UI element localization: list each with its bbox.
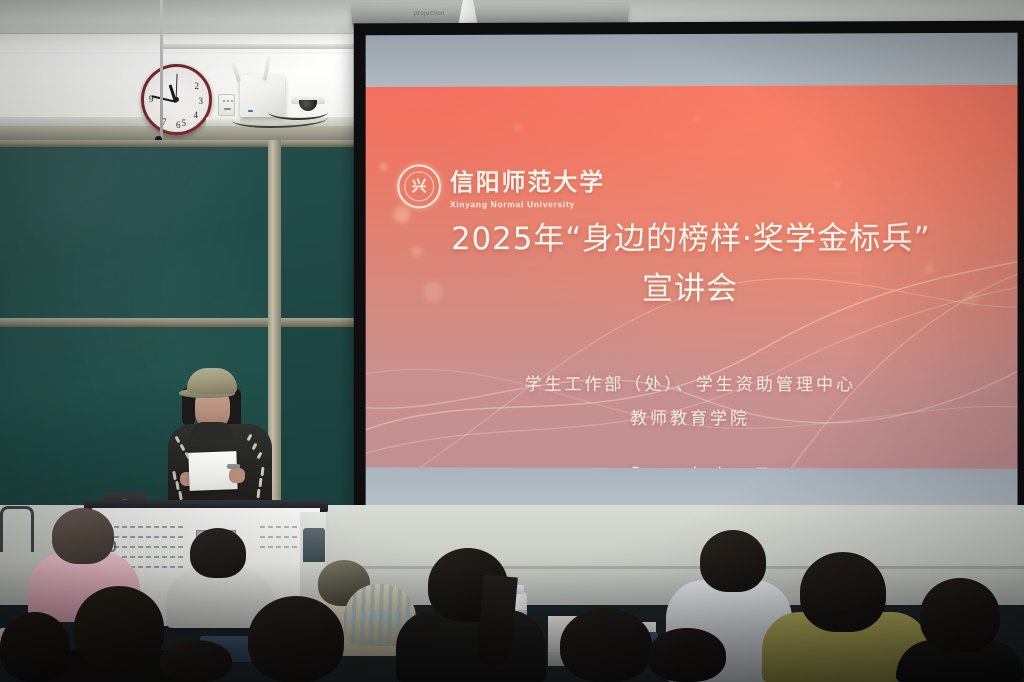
slide-subtitle-line2: 教师教育学院 xyxy=(366,401,1018,436)
bokeh-dot xyxy=(380,163,388,171)
chair-frame xyxy=(0,506,34,552)
audience-member xyxy=(190,528,246,578)
clock-numeral: 2 xyxy=(195,81,200,91)
speaker-cap xyxy=(187,368,237,394)
audience-member xyxy=(52,508,114,564)
audience-member xyxy=(800,552,886,632)
university-name-cn: 信阳师范大学 xyxy=(450,162,605,197)
university-logo: 兴 信阳师范大学 Xinyang Normal University xyxy=(397,162,605,209)
eyeglasses xyxy=(86,540,116,552)
lecture-hall-photo: 2 3 4 5 6 7 9 projection xyxy=(0,0,1024,682)
slide-title-line1: 2025年“身边的榜样·奖学金标兵” xyxy=(366,214,1018,265)
audience-member xyxy=(74,586,164,670)
wall-clock: 2 3 4 5 6 7 9 xyxy=(141,64,212,135)
audience-member xyxy=(0,612,70,682)
screen-brand-label: projection xyxy=(414,11,445,17)
clock-numeral: 6 xyxy=(176,120,181,130)
audience-member xyxy=(248,596,344,682)
emblem-mark: 兴 xyxy=(412,178,427,193)
audience-member xyxy=(700,530,766,592)
blackboard-rail-top xyxy=(0,140,360,147)
jacket-stripe xyxy=(175,481,180,490)
jacket-stripe xyxy=(172,471,177,480)
slide-subtitle-line1: 学生工作部（处）、学生资助管理中心 xyxy=(366,368,1018,403)
microphone-rod xyxy=(160,0,163,148)
slide-title-line2: 宣讲会 xyxy=(366,264,1018,314)
bokeh-dot xyxy=(515,124,521,130)
cable xyxy=(268,104,328,120)
projection-screen: 兴 信阳师范大学 Xinyang Normal University 2025年… xyxy=(354,21,1024,572)
speaker-hand-right xyxy=(229,468,245,483)
wristwatch xyxy=(227,464,240,469)
clock-center-pin xyxy=(174,97,179,102)
audience-member xyxy=(560,608,652,682)
university-emblem-icon: 兴 xyxy=(397,164,441,208)
jacket-stripe xyxy=(257,489,261,498)
university-name-en: Xinyang Normal University xyxy=(450,199,605,209)
jacket-stripe xyxy=(257,452,263,460)
jacket-stripe xyxy=(247,434,253,442)
letterbox-top xyxy=(366,33,1018,87)
audience-member xyxy=(160,640,232,682)
jacket-stripe xyxy=(259,478,263,487)
bokeh-dot xyxy=(834,182,840,188)
jacket-stripe xyxy=(178,491,183,500)
jacket-stripe xyxy=(252,443,258,451)
podium-side-shadow xyxy=(303,528,325,562)
slide-subtitle: 学生工作部（处）、学生资助管理中心 教师教育学院 xyxy=(366,368,1018,437)
clock-numeral: 3 xyxy=(199,96,204,106)
screen-surface: 兴 信阳师范大学 Xinyang Normal University 2025年… xyxy=(366,33,1018,560)
jacket-stripe xyxy=(175,436,181,444)
clock-numeral: 4 xyxy=(194,110,199,120)
bokeh-dot xyxy=(694,116,699,121)
jacket-stripe xyxy=(180,444,186,452)
speaker-collar xyxy=(191,422,233,440)
jacket-stripe xyxy=(261,467,265,476)
slide-title: 2025年“身边的榜样·奖学金标兵” 宣讲会 xyxy=(366,214,1018,315)
blackboard-rail-right xyxy=(281,318,360,327)
audience-member xyxy=(648,628,726,682)
audience-member xyxy=(920,578,1000,652)
presentation-slide: 兴 信阳师范大学 Xinyang Normal University 2025年… xyxy=(366,85,1018,469)
clock-numeral: 5 xyxy=(182,118,187,128)
